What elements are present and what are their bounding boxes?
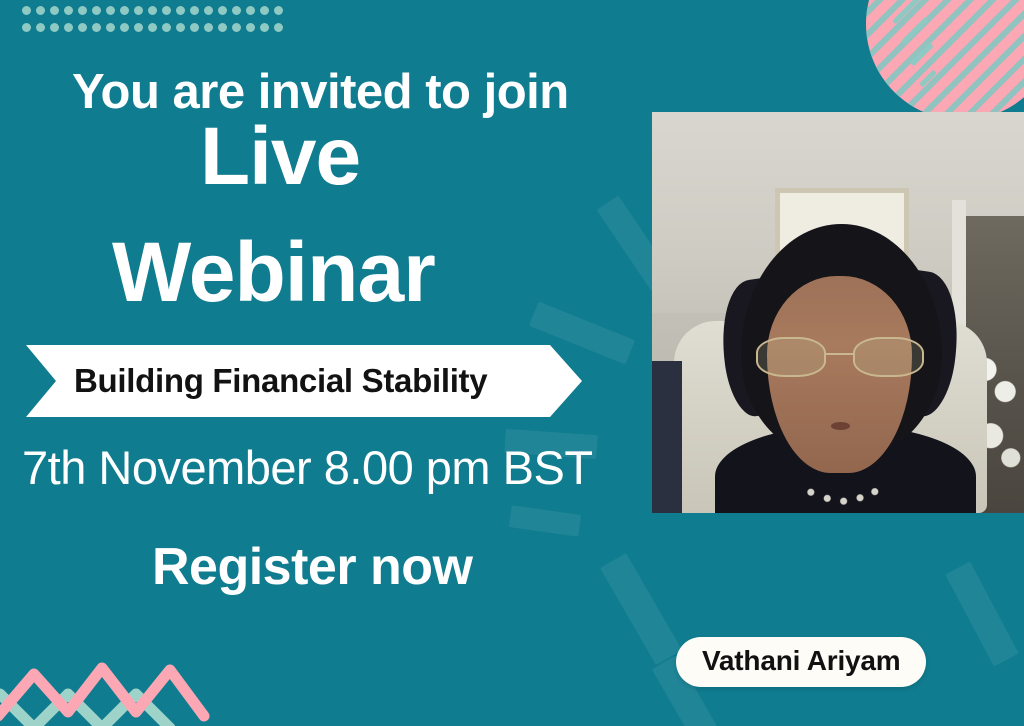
grid-dot bbox=[22, 23, 31, 32]
grid-dot bbox=[50, 6, 59, 15]
register-now-callout[interactable]: Register now bbox=[152, 537, 473, 597]
diagonal-bar-decoration bbox=[509, 505, 581, 537]
photo-glasses-bridge bbox=[826, 353, 853, 355]
grid-dot bbox=[120, 23, 129, 32]
grid-dot bbox=[260, 6, 269, 15]
grid-dot bbox=[134, 6, 143, 15]
grid-dot bbox=[36, 23, 45, 32]
grid-dot bbox=[274, 23, 283, 32]
grid-dot bbox=[92, 23, 101, 32]
grid-dot bbox=[78, 23, 87, 32]
grid-dot bbox=[176, 23, 185, 32]
grid-dot bbox=[64, 23, 73, 32]
pink-circle-stripes bbox=[866, 0, 1024, 120]
grid-dot bbox=[190, 23, 199, 32]
grid-dot bbox=[162, 23, 171, 32]
topic-ribbon-label: Building Financial Stability bbox=[74, 362, 487, 400]
grid-dot bbox=[246, 6, 255, 15]
pink-circle-decoration bbox=[866, 0, 1024, 120]
photo-glasses bbox=[756, 337, 923, 377]
grid-dot bbox=[218, 6, 227, 15]
speaker-name-pill: Vathani Ariyam bbox=[676, 637, 926, 687]
zigzag-decoration bbox=[0, 616, 228, 726]
photo-lens-right bbox=[853, 337, 923, 377]
grid-dot bbox=[232, 23, 241, 32]
grid-dot bbox=[92, 6, 101, 15]
grid-dot bbox=[204, 6, 213, 15]
grid-dot bbox=[260, 23, 269, 32]
grid-dot bbox=[106, 23, 115, 32]
grid-dot bbox=[274, 6, 283, 15]
photo-necklace bbox=[801, 481, 883, 509]
grid-dot bbox=[232, 6, 241, 15]
dot-grid-decoration bbox=[22, 6, 284, 38]
grid-dot bbox=[148, 6, 157, 15]
speaker-name-label: Vathani Ariyam bbox=[702, 645, 900, 676]
grid-dot bbox=[176, 6, 185, 15]
grid-dot bbox=[64, 6, 73, 15]
grid-dot bbox=[22, 6, 31, 15]
grid-dot bbox=[148, 23, 157, 32]
grid-dot bbox=[50, 23, 59, 32]
diagonal-bar-decoration bbox=[600, 553, 682, 665]
grid-dot bbox=[134, 23, 143, 32]
grid-dot bbox=[106, 6, 115, 15]
grid-dot bbox=[190, 6, 199, 15]
grid-dot bbox=[120, 6, 129, 15]
speaker-photo bbox=[652, 112, 1024, 513]
webinar-invitation-poster: You are invited to join Live Webinar Bui… bbox=[0, 0, 1024, 726]
topic-ribbon-banner: Building Financial Stability bbox=[26, 345, 582, 417]
grid-dot bbox=[218, 23, 227, 32]
photo-lens-left bbox=[756, 337, 826, 377]
event-datetime: 7th November 8.00 pm BST bbox=[22, 440, 593, 495]
photo-chair-shadow bbox=[652, 361, 682, 513]
grid-dot bbox=[162, 6, 171, 15]
photo-mouth bbox=[831, 422, 850, 430]
grid-dot bbox=[36, 6, 45, 15]
grid-dot bbox=[78, 6, 87, 15]
diagonal-bar-decoration bbox=[945, 562, 1019, 667]
grid-dot bbox=[204, 23, 213, 32]
webinar-heading: Webinar bbox=[112, 230, 435, 314]
grid-dot bbox=[246, 23, 255, 32]
live-heading: Live bbox=[200, 116, 360, 198]
